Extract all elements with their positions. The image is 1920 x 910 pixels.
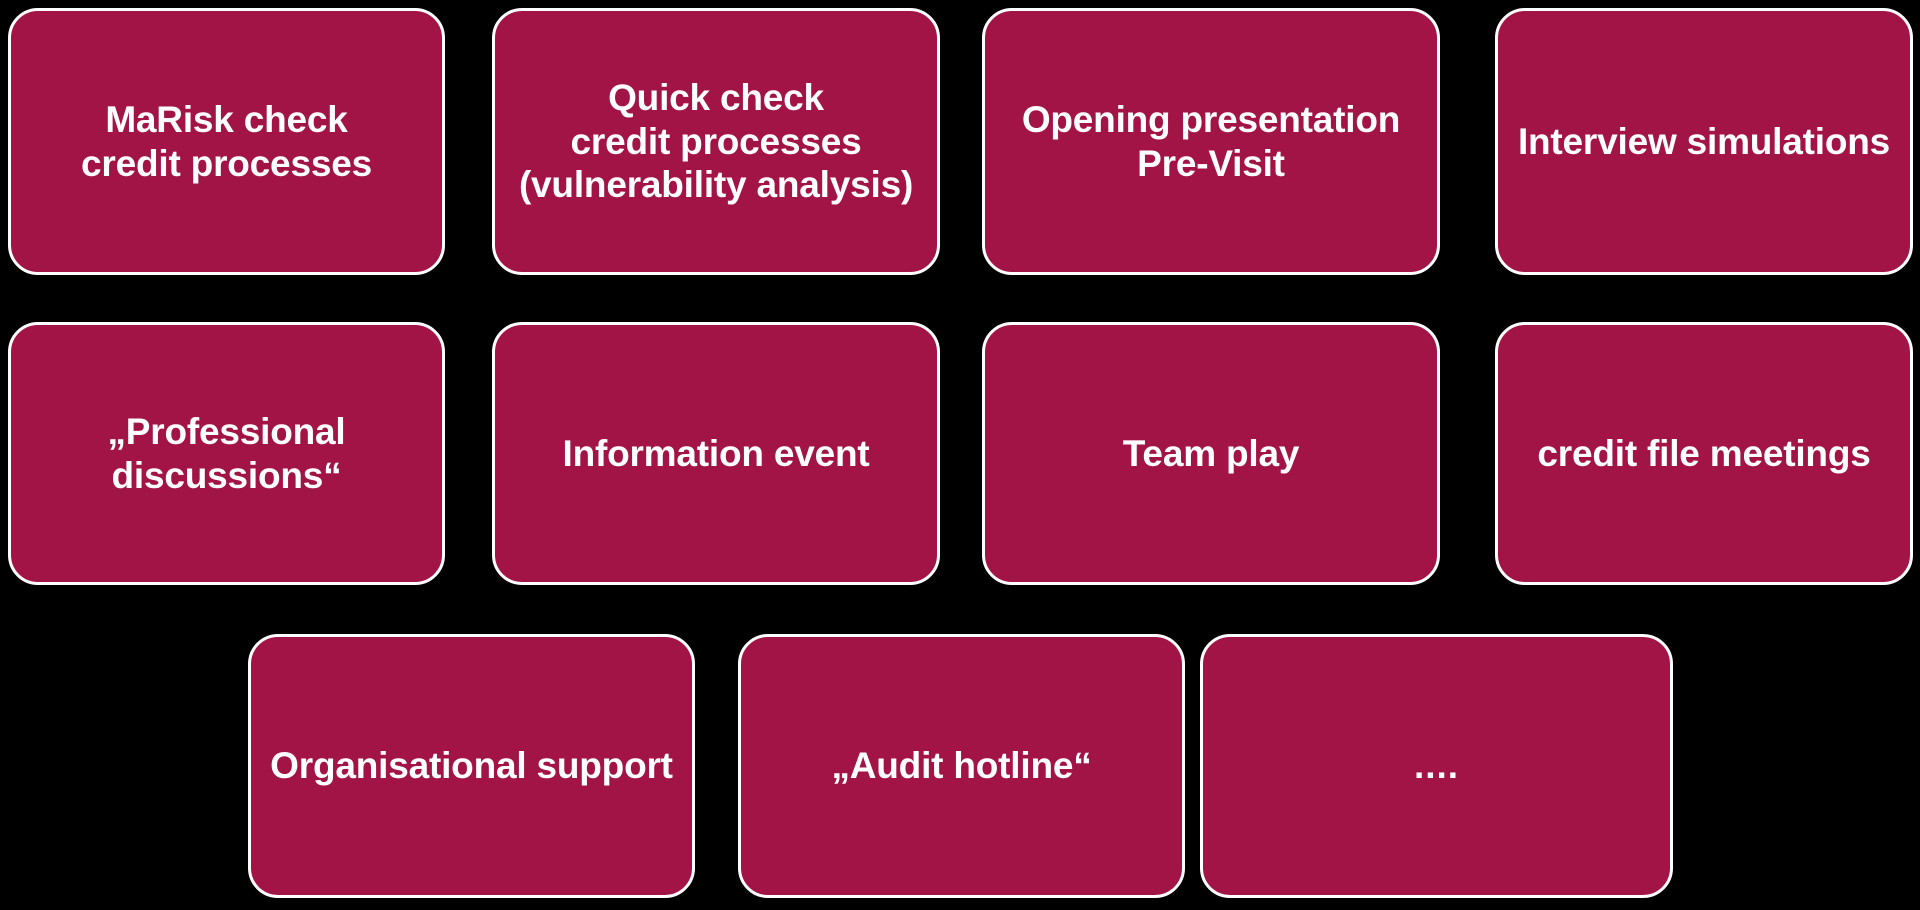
card-label: Opening presentation Pre-Visit <box>1022 98 1400 185</box>
card-label: MaRisk check credit processes <box>81 98 372 185</box>
card-marisk-check-credit-processes[interactable]: MaRisk check credit processes <box>8 8 445 275</box>
card-label: .... <box>1414 744 1459 788</box>
card-audit-hotline[interactable]: „Audit hotline“ <box>738 634 1185 898</box>
card-label: „Professional discussions“ <box>108 410 346 497</box>
card-label: „Audit hotline“ <box>831 744 1091 788</box>
card-ellipsis-more[interactable]: .... <box>1200 634 1673 898</box>
card-credit-file-meetings[interactable]: credit file meetings <box>1495 322 1913 585</box>
card-organisational-support[interactable]: Organisational support <box>248 634 695 898</box>
card-professional-discussions[interactable]: „Professional discussions“ <box>8 322 445 585</box>
diagram-canvas: MaRisk check credit processes Quick chec… <box>0 0 1920 910</box>
card-opening-presentation-pre-visit[interactable]: Opening presentation Pre-Visit <box>982 8 1440 275</box>
card-label: credit file meetings <box>1537 432 1870 476</box>
card-team-play[interactable]: Team play <box>982 322 1440 585</box>
card-label: Information event <box>562 432 869 476</box>
card-interview-simulations[interactable]: Interview simulations <box>1495 8 1913 275</box>
card-label: Interview simulations <box>1518 120 1890 164</box>
card-label: Team play <box>1123 432 1299 476</box>
card-quick-check-credit-processes[interactable]: Quick check credit processes (vulnerabil… <box>492 8 940 275</box>
card-label: Organisational support <box>270 744 673 788</box>
card-label: Quick check credit processes (vulnerabil… <box>519 76 913 207</box>
card-information-event[interactable]: Information event <box>492 322 940 585</box>
